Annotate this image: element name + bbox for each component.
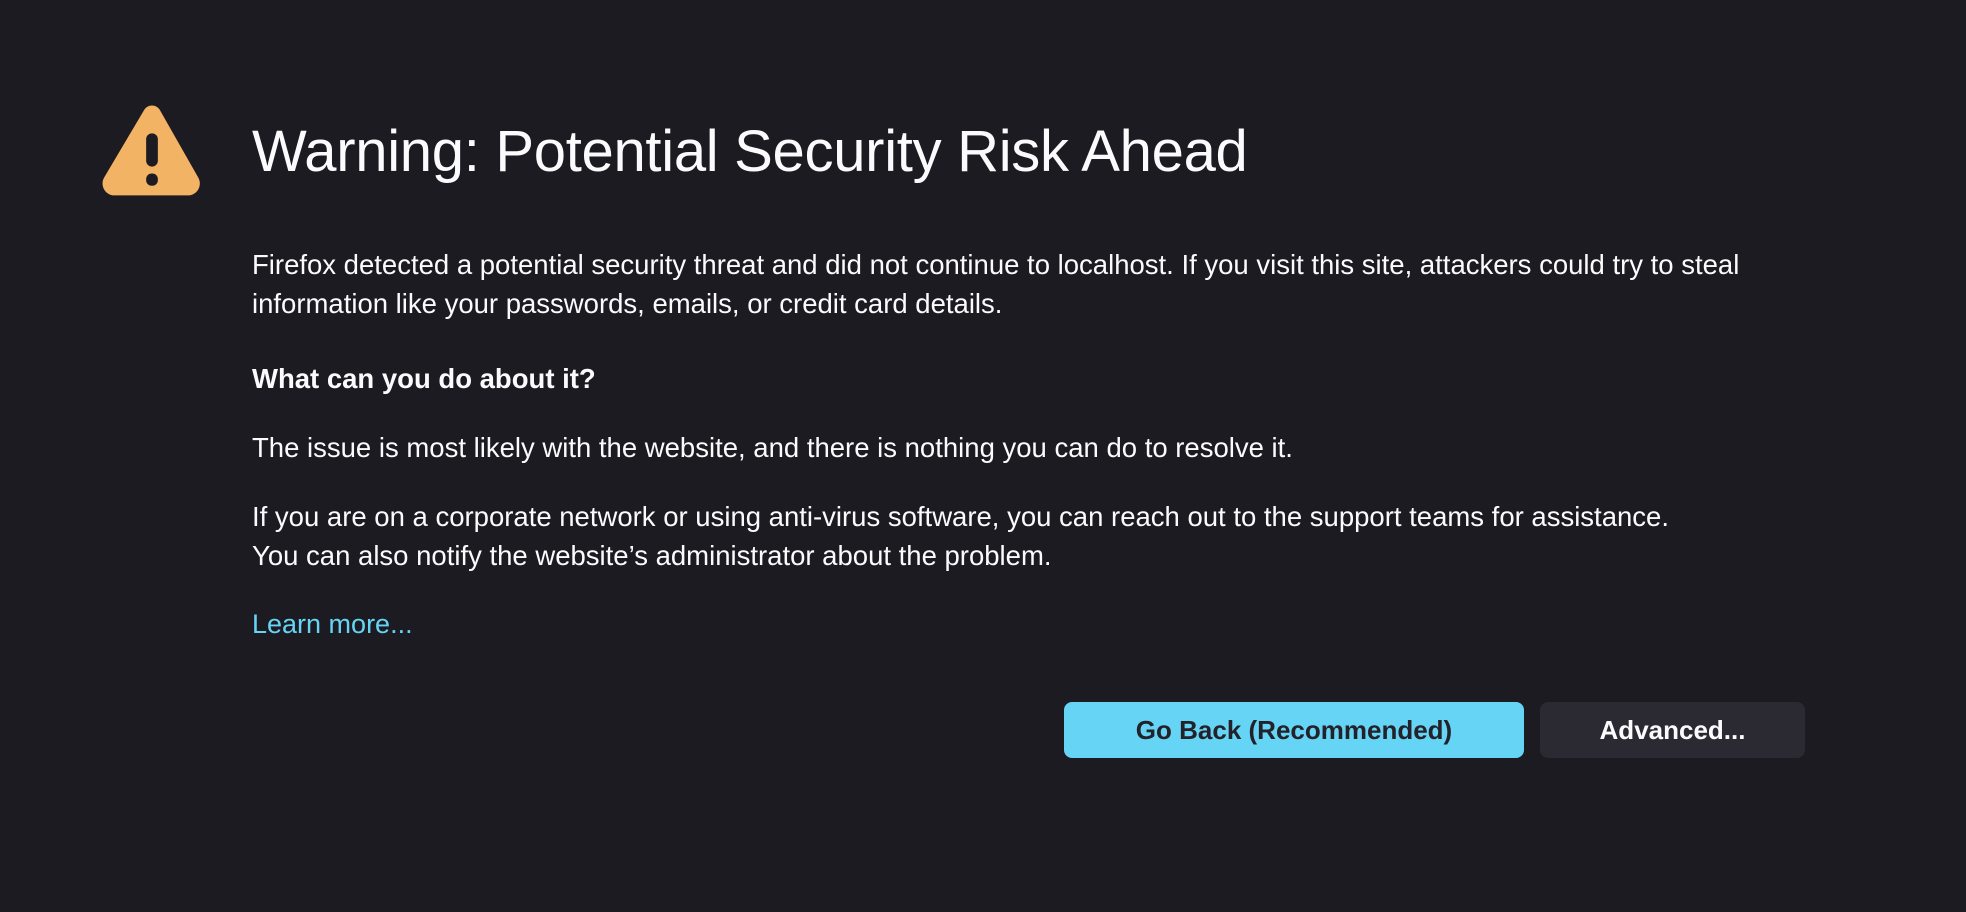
- page-header: Warning: Potential Security Risk Ahead: [100, 100, 1248, 204]
- error-body: Firefox detected a potential security th…: [252, 245, 1804, 642]
- intro-paragraph: Firefox detected a potential security th…: [252, 245, 1804, 323]
- warning-triangle-icon: [100, 100, 204, 204]
- page-title: Warning: Potential Security Risk Ahead: [252, 120, 1248, 184]
- go-back-button[interactable]: Go Back (Recommended): [1064, 702, 1524, 758]
- advanced-button[interactable]: Advanced...: [1540, 702, 1805, 758]
- action-buttons: Go Back (Recommended) Advanced...: [1064, 702, 1805, 758]
- resolve-paragraph: The issue is most likely with the websit…: [252, 428, 1804, 467]
- what-can-you-do-heading: What can you do about it?: [252, 359, 1804, 398]
- error-page: Warning: Potential Security Risk Ahead F…: [0, 0, 1966, 912]
- corporate-network-paragraph: If you are on a corporate network or usi…: [252, 497, 1722, 575]
- learn-more-link[interactable]: Learn more...: [252, 607, 413, 642]
